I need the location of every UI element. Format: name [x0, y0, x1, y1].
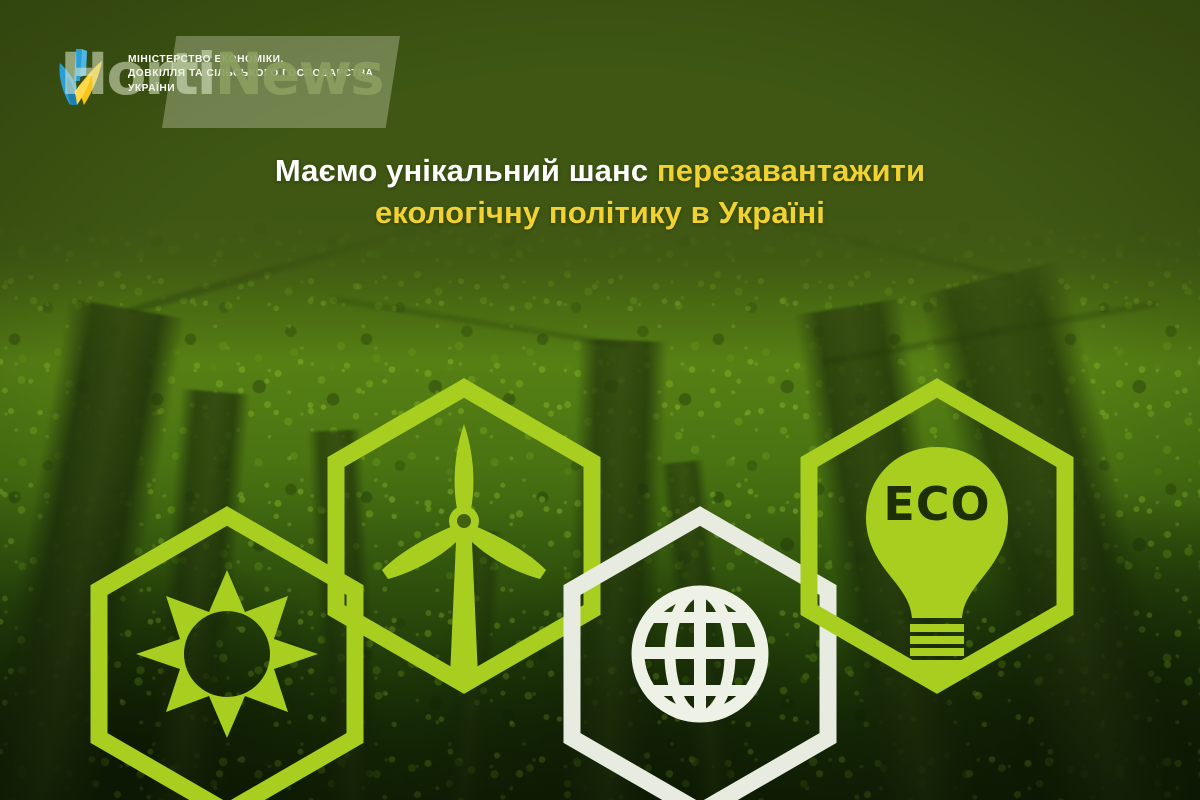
sun-icon: [136, 570, 318, 738]
eco-label: ECO: [883, 477, 990, 531]
ministry-line-2: ДОВКІЛЛЯ ТА СІЛЬСЬКОГО ГОСПОДАРСТВА: [128, 67, 373, 81]
ministry-emblem-icon: [46, 47, 118, 109]
headline-white-part: Маємо унікальний шанс: [275, 153, 657, 188]
headline-line-2: екологічну політику в Україні: [0, 192, 1200, 234]
headline-yellow-part: перезавантажити: [657, 153, 925, 188]
hex-eco: ECO: [809, 388, 1065, 690]
header: МІНІСТЕРСТВО ЕКОНОМІКИ, ДОВКІЛЛЯ ТА СІЛЬ…: [46, 47, 373, 109]
hexagon-icon-group: ECO: [0, 0, 1200, 800]
hex-solar: [99, 516, 355, 800]
ministry-line-1: МІНІСТЕРСТВО ЕКОНОМІКИ,: [128, 53, 373, 67]
turbine-hub-center: [457, 514, 471, 528]
page-title: Маємо унікальний шанс перезавантажити ек…: [0, 150, 1200, 233]
ministry-line-3: УКРАЇНИ: [128, 82, 373, 96]
banner-stage: ECO HortiNews МІНІСТЕРСТВО ЕКОНОМІКИ, ДО…: [0, 0, 1200, 800]
hex-globe: [572, 516, 828, 800]
ministry-title: МІНІСТЕРСТВО ЕКОНОМІКИ, ДОВКІЛЛЯ ТА СІЛЬ…: [128, 47, 373, 96]
hex-wind: [336, 388, 592, 684]
headline-line-1: Маємо унікальний шанс перезавантажити: [0, 150, 1200, 192]
globe-icon: [638, 592, 762, 716]
